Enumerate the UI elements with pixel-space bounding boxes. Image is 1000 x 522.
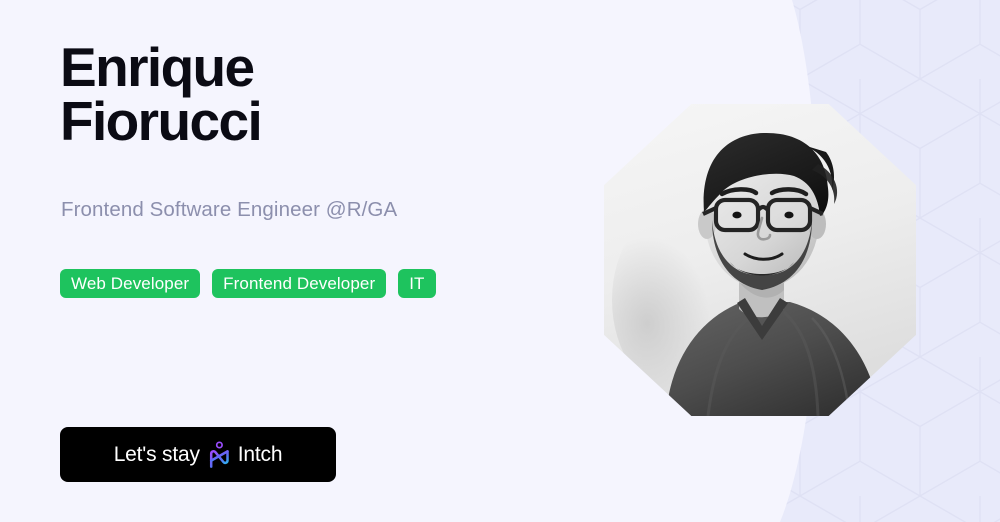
avatar [604, 104, 916, 416]
profile-card: Enrique Fiorucci Frontend Software Engin… [0, 0, 1000, 522]
profile-content: Enrique Fiorucci Frontend Software Engin… [60, 0, 620, 522]
tag-it[interactable]: IT [398, 269, 435, 298]
tag-list: Web Developer Frontend Developer IT [60, 269, 436, 298]
tag-frontend-developer[interactable]: Frontend Developer [212, 269, 386, 298]
cta-text-before: Let's stay [114, 444, 200, 465]
tag-web-developer[interactable]: Web Developer [60, 269, 200, 298]
avatar-image [604, 104, 916, 416]
intch-logo-icon [208, 441, 230, 469]
page-title: Enrique Fiorucci [60, 40, 261, 149]
cta-brand-name: Intch [238, 444, 283, 465]
lets-stay-intch-button[interactable]: Let's stay Intch [60, 427, 336, 482]
profile-headline: Frontend Software Engineer @R/GA [61, 198, 397, 222]
